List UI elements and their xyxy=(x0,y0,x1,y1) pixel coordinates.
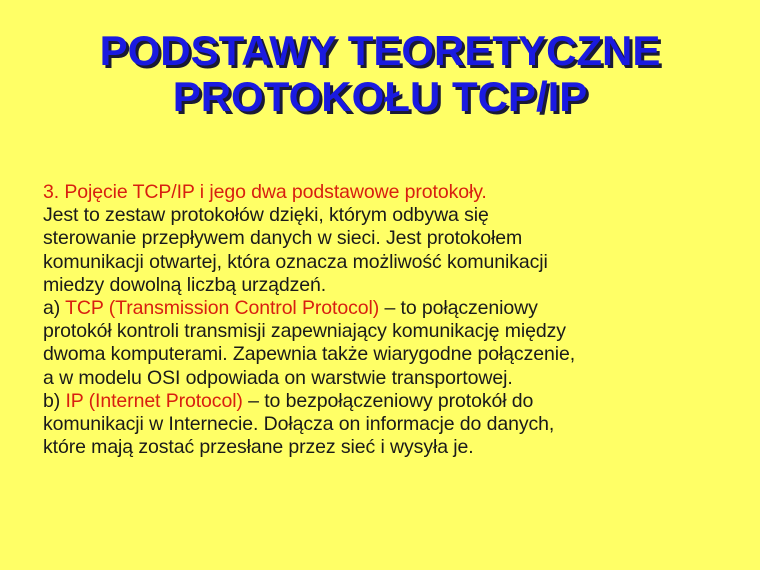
body-line-2: Jest to zestaw protokołów dzięki, którym… xyxy=(43,204,733,227)
plain-text: które mają zostać przesłane przez sieć i… xyxy=(43,436,474,458)
body-line-5: miedzy dowolną liczbą urządzeń. xyxy=(43,274,733,297)
plain-text: b) xyxy=(43,390,65,412)
plain-text: – to połączeniowy xyxy=(379,297,538,319)
body-line-9: a w modelu OSI odpowiada on warstwie tra… xyxy=(43,367,733,390)
body-line-10: b) IP (Internet Protocol) – to bezpołącz… xyxy=(43,390,733,413)
plain-text: – to bezpołączeniowy protokół do xyxy=(243,390,533,412)
plain-text: komunikacji otwartej, która oznacza możl… xyxy=(43,251,548,273)
body-line-12: które mają zostać przesłane przez sieć i… xyxy=(43,436,733,459)
body-line-6: a) TCP (Transmission Control Protocol) –… xyxy=(43,297,733,320)
plain-text: komunikacji w Internecie. Dołącza on inf… xyxy=(43,413,554,435)
body-line-1: 3. Pojęcie TCP/IP i jego dwa podstawowe … xyxy=(43,181,733,204)
plain-text: miedzy dowolną liczbą urządzeń. xyxy=(43,274,326,296)
body-line-11: komunikacji w Internecie. Dołącza on inf… xyxy=(43,413,733,436)
slide-body-text: 3. Pojęcie TCP/IP i jego dwa podstawowe … xyxy=(43,181,733,459)
body-line-7: protokół kontroli transmisji zapewniając… xyxy=(43,320,733,343)
slide-title: PODSTAWY TEORETYCZNE PROTOKOŁU TCP/IP xyxy=(0,28,760,120)
presentation-slide: PODSTAWY TEORETYCZNE PROTOKOŁU TCP/IP 3.… xyxy=(0,0,760,570)
plain-text: a) xyxy=(43,297,65,319)
plain-text: protokół kontroli transmisji zapewniając… xyxy=(43,320,566,342)
slide-title-line-1: PODSTAWY TEORETYCZNE xyxy=(0,28,760,74)
plain-text: a w modelu OSI odpowiada on warstwie tra… xyxy=(43,367,513,389)
accent-text: 3. Pojęcie TCP/IP i jego dwa podstawowe … xyxy=(43,181,487,203)
body-line-3: sterowanie przepływem danych w sieci. Je… xyxy=(43,227,733,250)
plain-text: dwoma komputerami. Zapewnia także wiaryg… xyxy=(43,343,575,365)
accent-text: IP (Internet Protocol) xyxy=(65,390,242,412)
body-line-8: dwoma komputerami. Zapewnia także wiaryg… xyxy=(43,343,733,366)
slide-title-line-2: PROTOKOŁU TCP/IP xyxy=(0,74,760,120)
plain-text: sterowanie przepływem danych w sieci. Je… xyxy=(43,227,522,249)
accent-text: TCP (Transmission Control Protocol) xyxy=(65,297,379,319)
body-line-4: komunikacji otwartej, która oznacza możl… xyxy=(43,251,733,274)
plain-text: Jest to zestaw protokołów dzięki, którym… xyxy=(43,204,489,226)
